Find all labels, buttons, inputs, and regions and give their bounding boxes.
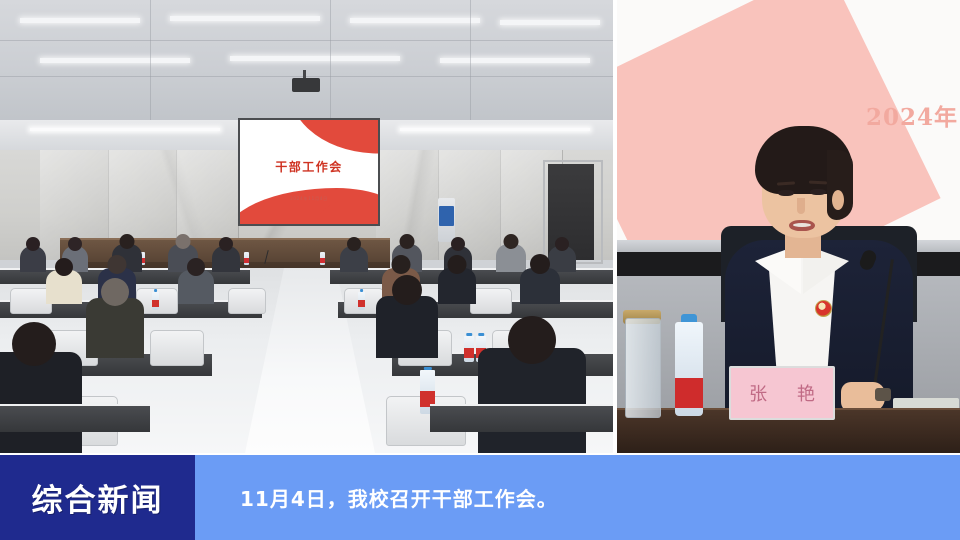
audience-head	[219, 237, 233, 251]
teeth	[793, 223, 811, 227]
audience-desk	[0, 404, 150, 432]
audience-member	[46, 270, 82, 304]
audience-head	[187, 258, 205, 276]
speaker-ear	[832, 190, 844, 210]
water-bottle	[358, 292, 365, 310]
ceiling-light-strip	[350, 18, 480, 23]
ceiling-seam	[330, 0, 331, 120]
audience-member	[340, 246, 368, 272]
bulkhead-light	[30, 128, 220, 131]
wristwatch	[875, 388, 891, 401]
audience-head	[176, 234, 191, 249]
ceiling-seam	[0, 40, 613, 41]
screen-title-text: 干部工作会	[240, 158, 378, 175]
audience-head	[68, 237, 82, 251]
speaker-hair-side	[827, 150, 853, 220]
ceiling-light-strip	[440, 58, 590, 63]
audience-head	[392, 275, 422, 305]
audience-head	[108, 255, 127, 274]
ceiling-light-strip	[40, 58, 190, 63]
water-cooler-label	[439, 206, 454, 226]
bulkhead-light	[400, 128, 590, 131]
ceiling-light-strip	[20, 18, 140, 23]
audience-head	[448, 255, 467, 274]
caption-area: 11月4日，我校召开干部工作会。	[195, 455, 960, 540]
audience-head	[555, 237, 569, 251]
audience-member	[212, 246, 240, 272]
speaker-nameplate-text: 张 艳	[731, 380, 833, 406]
water-bottle	[320, 252, 325, 265]
ceiling-light-strip	[170, 16, 320, 21]
audience-member	[496, 244, 526, 272]
audience-member	[376, 296, 438, 358]
audience-head	[508, 316, 556, 364]
nose	[797, 198, 805, 214]
screen-red-accent	[288, 118, 380, 163]
water-bottle	[464, 336, 474, 362]
audience-head	[347, 237, 361, 251]
eye-right	[810, 189, 826, 195]
lapel-pin	[815, 300, 832, 317]
caption-banner: 综合新闻 11月4日，我校召开干部工作会。	[0, 455, 960, 540]
projection-screen: 干部工作会 2024年11月4日	[238, 118, 380, 226]
audience-head	[451, 237, 465, 251]
audience-head	[12, 322, 56, 366]
audience-head	[392, 255, 411, 274]
conference-hall-photo: 干部工作会 2024年11月4日	[0, 0, 613, 453]
audience-desk	[430, 404, 613, 432]
audience-head	[101, 278, 129, 306]
ceiling-light-strip	[500, 20, 600, 25]
audience-member	[0, 352, 82, 453]
audience-member	[520, 268, 560, 304]
audience-member	[178, 270, 214, 304]
audience-head	[26, 237, 40, 251]
audience-member	[20, 246, 46, 272]
backdrop-year-text: 2024年	[866, 98, 958, 132]
audience-member	[478, 348, 586, 453]
ceiling-projector	[292, 78, 320, 92]
news-collage-page: 干部工作会 2024年11月4日	[0, 0, 960, 540]
water-bottle	[244, 252, 249, 265]
tea-flask	[625, 318, 661, 418]
ceiling-seam	[470, 0, 471, 120]
eye-left	[778, 190, 794, 196]
speaker-nameplate: 张 艳	[729, 366, 835, 420]
audience-chair[interactable]	[228, 288, 266, 314]
audience-head	[55, 258, 73, 276]
water-bottle-label	[675, 378, 703, 408]
audience-member	[438, 268, 476, 304]
category-badge-label: 综合新闻	[32, 475, 164, 520]
ceiling-light-strip	[230, 56, 400, 61]
audience-chair[interactable]	[470, 288, 512, 314]
audience-chair[interactable]	[150, 330, 204, 366]
audience-head	[530, 254, 550, 274]
water-bottle	[152, 292, 159, 310]
category-badge[interactable]: 综合新闻	[0, 455, 195, 540]
screen-subtitle-text: 2024年11月4日	[240, 196, 378, 202]
audience-head	[400, 234, 415, 249]
ceiling-seam	[150, 0, 151, 120]
ceiling-seam	[0, 76, 613, 77]
caption-text: 11月4日，我校召开干部工作会。	[240, 483, 558, 512]
audience-head	[504, 234, 519, 249]
audience-member	[86, 298, 144, 358]
speaker-portrait-photo: 2024年	[617, 0, 960, 453]
audience-head	[120, 234, 135, 249]
